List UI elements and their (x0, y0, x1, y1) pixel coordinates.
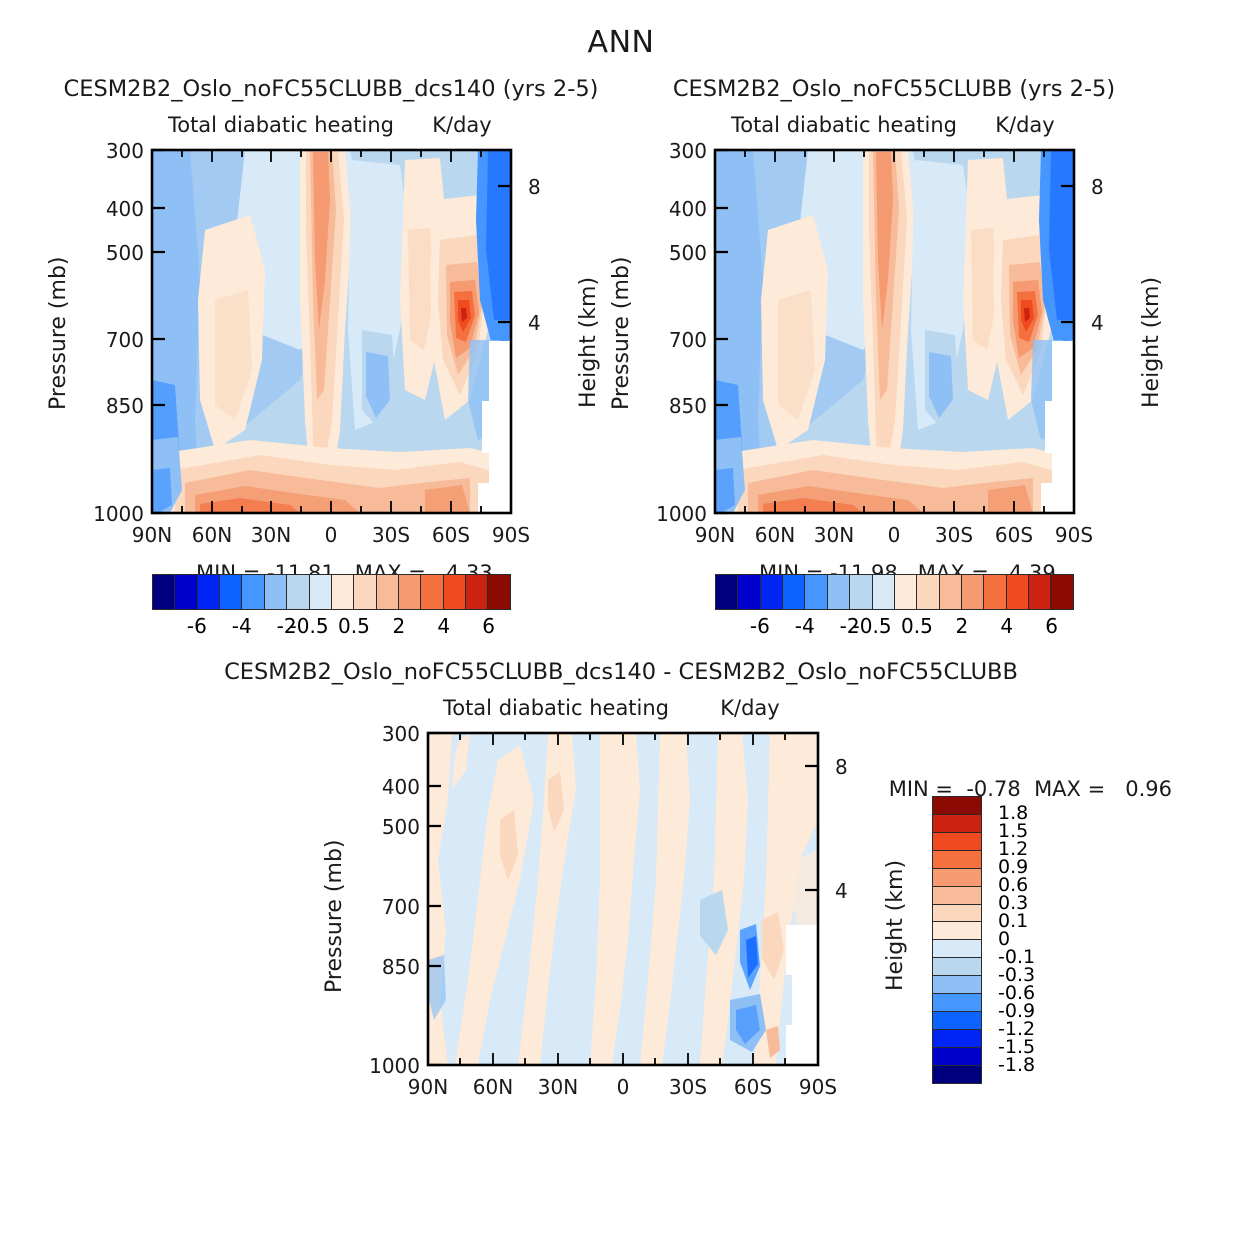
colorbar-cell (1050, 574, 1074, 610)
panel-title-control: CESM2B2_Oslo_noFC55CLUBB (yrs 2-5) (673, 76, 1115, 102)
colorbar-cell (932, 904, 982, 923)
colorbar-tick-label: 0.5 (338, 614, 370, 638)
colorbar-cell (932, 814, 982, 833)
colorbar-control[interactable] (715, 574, 1074, 610)
colorbar-cell (286, 574, 310, 610)
colorbar-cell (932, 975, 982, 994)
colorbar-cell (309, 574, 333, 610)
colorbar-tick-label: -1.8 (998, 1054, 1035, 1076)
colorbar-cell (376, 574, 400, 610)
colorbar-cell (894, 574, 918, 610)
max-value-difference: 0.96 (1125, 777, 1172, 801)
colorbar-tick-label: -0.5 (853, 614, 892, 638)
colorbar-cell (983, 574, 1007, 610)
contour-field-difference (428, 733, 818, 1065)
colorbar-tick-label: 0.5 (901, 614, 933, 638)
colorbar-tick-label: 2 (392, 614, 405, 638)
colorbar-cell (932, 1011, 982, 1030)
colorbar-cell (264, 574, 288, 610)
colorbar-cell (420, 574, 444, 610)
colorbar-test[interactable] (152, 574, 511, 610)
y-axis-label-right-control: Height (km) (1139, 277, 1164, 408)
colorbar-labels-control: -6-4-2-0.50.5246 (715, 614, 1074, 640)
colorbar-cell (353, 574, 377, 610)
colorbar-cell (197, 574, 221, 610)
colorbar-tick-label: 4 (437, 614, 450, 638)
colorbar-labels-difference: 1.81.51.20.90.60.30.10-0.1-0.3-0.6-0.9-1… (990, 796, 1070, 1084)
colorbar-cell (932, 796, 982, 815)
colorbar-cell (827, 574, 851, 610)
panel-variable-difference: Total diabatic heating (443, 696, 669, 720)
colorbar-difference[interactable] (932, 796, 982, 1084)
colorbar-cell (932, 921, 982, 940)
panel-units-difference: K/day (720, 696, 779, 720)
colorbar-tick-label: 4 (1000, 614, 1013, 638)
y-axis-label-right-difference: Height (km) (883, 860, 908, 991)
colorbar-tick-label: -6 (187, 614, 207, 638)
colorbar-cell (932, 993, 982, 1012)
panel-title-difference: CESM2B2_Oslo_noFC55CLUBB_dcs140 - CESM2B… (224, 659, 1018, 685)
contour-field-test (152, 150, 511, 513)
colorbar-cell (932, 832, 982, 851)
colorbar-cell (219, 574, 243, 610)
colorbar-cell (174, 574, 198, 610)
colorbar-cell (932, 886, 982, 905)
colorbar-cell (1028, 574, 1052, 610)
colorbar-cell (932, 850, 982, 869)
contour-field-control (715, 150, 1074, 513)
colorbar-cell (1006, 574, 1030, 610)
colorbar-cell (932, 1047, 982, 1066)
panel-variable-control: Total diabatic heating (731, 113, 957, 137)
colorbar-cell (487, 574, 511, 610)
y-axis-label-control: Pressure (mb) (609, 257, 634, 411)
colorbar-tick-label: 6 (1045, 614, 1058, 638)
colorbar-cell (241, 574, 265, 610)
colorbar-cell (961, 574, 985, 610)
colorbar-cell (465, 574, 489, 610)
colorbar-cell (398, 574, 422, 610)
y-axis-label-difference: Pressure (mb) (322, 840, 347, 994)
colorbar-cell (760, 574, 784, 610)
colorbar-cell (939, 574, 963, 610)
colorbar-cell (804, 574, 828, 610)
panel-units-control: K/day (995, 113, 1054, 137)
colorbar-labels-test: -6-4-2-0.50.5246 (152, 614, 511, 640)
colorbar-cell (872, 574, 896, 610)
colorbar-tick-label: -4 (795, 614, 815, 638)
colorbar-tick-label: -6 (750, 614, 770, 638)
colorbar-cell (331, 574, 355, 610)
colorbar-tick-label: 6 (482, 614, 495, 638)
colorbar-tick-label: 2 (955, 614, 968, 638)
colorbar-cell (932, 1065, 982, 1084)
colorbar-cell (932, 868, 982, 887)
colorbar-cell (932, 1029, 982, 1048)
figure-canvas: ANN CESM2B2_Oslo_noFC55CLUBB_dcs140 (yrs… (0, 0, 1242, 1244)
colorbar-cell (932, 939, 982, 958)
colorbar-cell (443, 574, 467, 610)
colorbar-cell (916, 574, 940, 610)
colorbar-tick-label: -0.5 (290, 614, 329, 638)
colorbar-tick-label: -4 (232, 614, 252, 638)
colorbar-cell (849, 574, 873, 610)
colorbar-cell (932, 957, 982, 976)
colorbar-cell (737, 574, 761, 610)
colorbar-cell (782, 574, 806, 610)
colorbar-cell (152, 574, 176, 610)
colorbar-cell (715, 574, 739, 610)
